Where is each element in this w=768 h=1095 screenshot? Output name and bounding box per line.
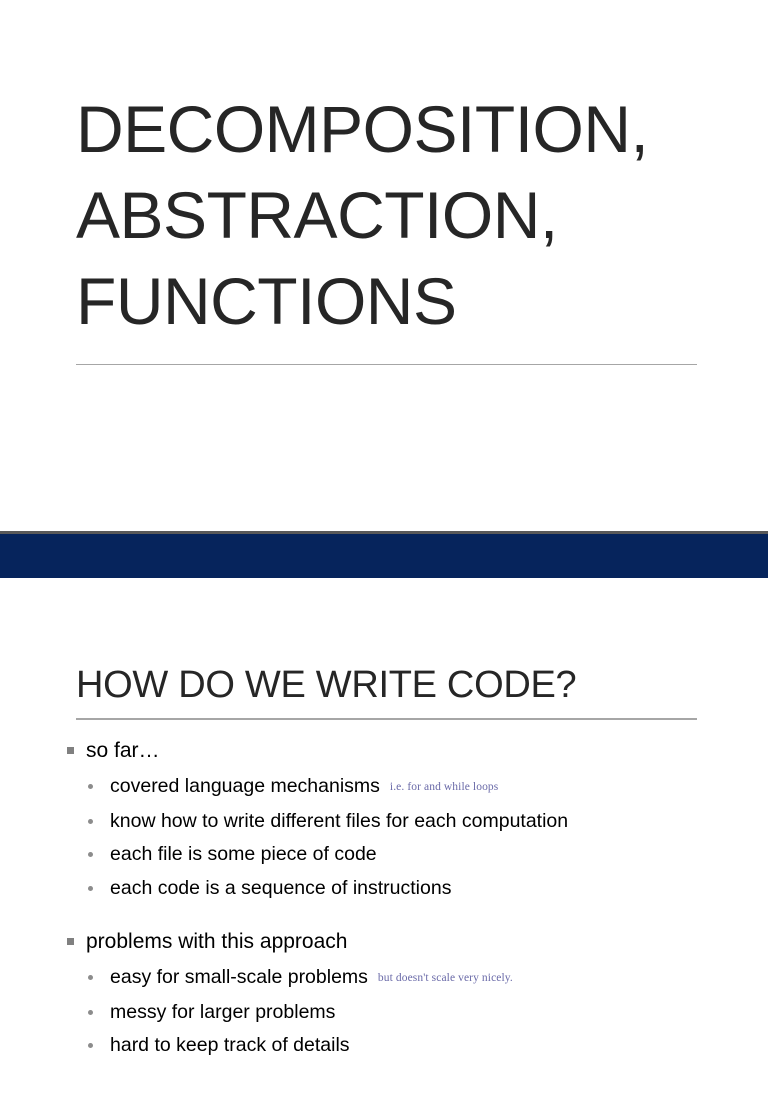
footer-course-label: 6.0001 LECTURE 6 [347,1085,426,1095]
bullet-level2-label: each file is some piece of code [110,843,377,865]
bullet-annotation: i.e. for and while loops [380,781,498,793]
footer-bar: February 22, 2016 6.0001 LECTURE 6 1 [0,534,768,578]
dot-bullet-icon [88,784,93,789]
dot-bullet-icon [88,975,93,980]
footer-date: February 22, 2016 [76,1085,151,1095]
heading-divider [76,718,697,720]
footer-page-number: 1 [688,1083,694,1095]
bullet-level2-label: covered language mechanisms [110,775,380,797]
title-block: DECOMPOSITION, ABSTRACTION, FUNCTIONS [76,86,698,344]
bullet-level2: covered language mechanismsi.e. for and … [62,770,752,805]
bullet-list: so far… covered language mechanismsi.e. … [62,734,752,1063]
bullet-level2-label: know how to write different files for ea… [110,810,568,832]
slide-document: DECOMPOSITION, ABSTRACTION, FUNCTIONS Fe… [0,0,768,1024]
bullet-annotation: but doesn't scale very nicely. [368,972,513,984]
slide-how-do-we-write-code: HOW DO WE WRITE CODE? so far… covered la… [0,578,768,1024]
slide-heading: HOW DO WE WRITE CODE? [76,662,576,708]
bullet-level2-label: easy for small-scale problems [110,966,368,988]
bullet-level1: so far… [62,734,752,768]
bullet-level2: each file is some piece of code [62,838,752,872]
square-bullet-icon [67,747,74,754]
slide-title-page: DECOMPOSITION, ABSTRACTION, FUNCTIONS [0,0,768,578]
dot-bullet-icon [88,1010,93,1015]
bullet-level2-label: hard to keep track of details [110,1034,350,1056]
bullet-level1-label: so far… [86,739,160,762]
dot-bullet-icon [88,886,93,891]
dot-bullet-icon [88,1043,93,1048]
bullet-level1-label: problems with this approach [86,930,347,953]
bullet-level2-label: messy for larger problems [110,1001,335,1023]
page-title: DECOMPOSITION, ABSTRACTION, FUNCTIONS [76,86,698,344]
bullet-level2: each code is a sequence of instructions [62,872,752,906]
dot-bullet-icon [88,852,93,857]
bullet-level2-label: each code is a sequence of instructions [110,877,451,899]
dot-bullet-icon [88,819,93,824]
list-group-spacer [62,905,752,925]
bullet-level1: problems with this approach [62,925,752,959]
title-divider [76,364,697,365]
bullet-level2: know how to write different files for ea… [62,805,752,839]
square-bullet-icon [67,938,74,945]
bullet-level2: easy for small-scale problemsbut doesn't… [62,961,752,996]
bullet-level2: hard to keep track of details [62,1029,752,1063]
